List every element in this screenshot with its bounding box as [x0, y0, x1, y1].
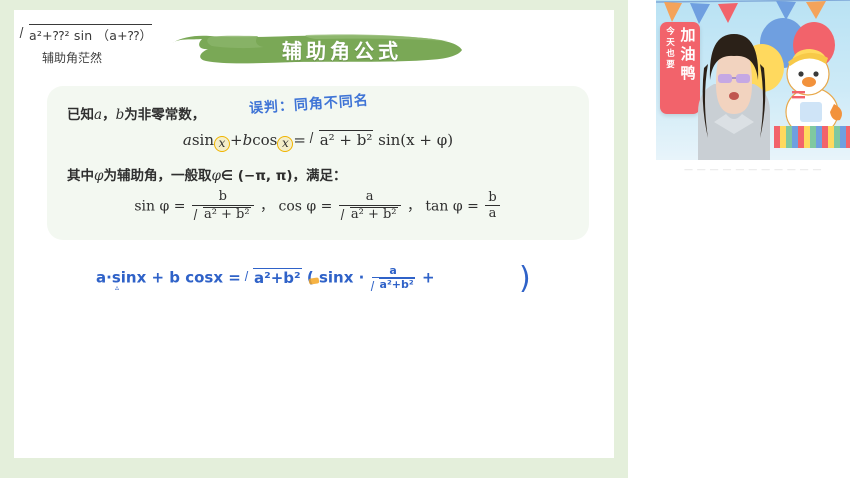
- screen-root: a²+⁇² sin （a+⁇） 辅助角茫然 辅助角公式 已知a，b为非零常数，: [0, 0, 850, 478]
- phi-t3: ，满足：: [293, 168, 347, 184]
- hw-triangle-mark: ▵: [115, 283, 119, 292]
- card-main-equation: asinx+bcosx= a² + b² sin(x + φ): [47, 130, 589, 152]
- ratio-tan-numerator: b: [485, 191, 499, 206]
- corner-note: a²+⁇² sin （a+⁇） 辅助角茫然: [20, 24, 160, 66]
- ratio-sep-2: ，: [407, 198, 421, 214]
- slide-region: a²+⁇² sin （a+⁇） 辅助角茫然 辅助角公式 已知a，b为非零常数，: [0, 0, 628, 478]
- hw-radicand: a²+b²: [253, 268, 302, 287]
- video-caption: — — — — — — — — — — —: [656, 162, 850, 178]
- ratio-sin-fn: sin φ: [134, 198, 169, 214]
- ratio-tan-fraction: b a: [485, 191, 499, 223]
- given-prefix: 已知: [67, 107, 94, 123]
- eq-equals: =: [293, 131, 306, 149]
- ratio-sin-numerator: b: [192, 190, 254, 205]
- phi-t2: 为辅助角，一般取: [103, 168, 211, 184]
- slide-page: a²+⁇² sin （a+⁇） 辅助角茫然 辅助角公式 已知a，b为非零常数，: [14, 10, 614, 458]
- eq-x2-highlight: x: [277, 136, 293, 152]
- corner-note-formula: a²+⁇² sin （a+⁇）: [20, 24, 160, 44]
- ratio-sin-den-radicand: a² + b²: [203, 207, 251, 223]
- ratio-tan-eq: =: [467, 198, 479, 214]
- phi-range: ∈ (−π, π): [221, 168, 293, 184]
- card-line-phi-range: 其中φ为辅助角，一般取φ∈ (−π, π)，满足：: [67, 164, 347, 184]
- eq-radicand: a² + b²: [319, 130, 374, 149]
- eq-b: b: [243, 131, 253, 149]
- eq-x1-highlight: x: [214, 136, 230, 152]
- corner-note-label: 辅助角茫然: [42, 49, 160, 66]
- given-var-b: b: [116, 107, 125, 123]
- hw-frac-den-radicand: a²+b²: [379, 278, 415, 291]
- instructor-avatar: [686, 24, 782, 160]
- card-ratio-row: sin φ = b a² + b² ， cos φ = a a² + b² ， …: [47, 190, 589, 223]
- eq-plus: +: [230, 131, 243, 149]
- handwritten-work: a·sinx + b cosx = a²+b² ( sinx · a a²+b²…: [96, 265, 435, 291]
- instructor-video[interactable]: 今天也要 加油鸭: [656, 0, 850, 160]
- ratio-cos-eq: =: [321, 198, 333, 214]
- phi-sym-2: φ: [211, 168, 220, 184]
- phi-t1: 其中: [67, 168, 94, 184]
- eq-rhs: sin(x + φ): [378, 131, 453, 149]
- hw-frac-numerator: a: [372, 265, 415, 277]
- ratio-cos-den-radicand: a² + b²: [350, 207, 398, 223]
- ratio-cos-den-radical: a² + b²: [342, 207, 398, 223]
- hw-fraction: a a²+b²: [372, 265, 415, 291]
- ratio-cos-numerator: a: [339, 190, 401, 205]
- ratio-sin-fraction: b a² + b²: [192, 190, 254, 223]
- eq-cos: cos: [252, 131, 277, 149]
- sign-line-1: 今天也要: [664, 27, 677, 71]
- ratio-tan-denominator: a: [485, 205, 499, 222]
- hw-close-paren: ): [519, 261, 531, 296]
- ratio-sep-1: ，: [260, 198, 274, 214]
- corner-radicand: a²+⁇² sin （a+⁇）: [29, 24, 152, 44]
- given-suffix: 为非零常数，: [124, 107, 205, 123]
- confetti-stripes: [774, 126, 850, 148]
- hw-inner-plus: +: [422, 269, 435, 287]
- card-line-given: 已知a，b为非零常数，: [67, 103, 205, 123]
- eq-sin: sin: [192, 131, 214, 149]
- given-comma: ，: [102, 107, 116, 123]
- hw-inner-sin: sinx ·: [319, 269, 364, 287]
- hw-frac-denominator: a²+b²: [372, 277, 415, 291]
- ratio-sin-eq: =: [174, 198, 186, 214]
- ratio-cos-fn: cos φ: [279, 198, 317, 214]
- ratio-cos-denominator: a² + b²: [339, 205, 401, 223]
- section-banner-title: 辅助角公式: [166, 29, 466, 69]
- corner-radical: a²+⁇² sin （a+⁇）: [20, 24, 152, 44]
- cartoon-duck-icon: [774, 44, 848, 136]
- eq-a: a: [183, 131, 192, 149]
- section-banner: 辅助角公式: [166, 29, 466, 69]
- given-var-a: a: [94, 107, 102, 123]
- ratio-tan-fn: tan φ: [425, 198, 462, 214]
- ratio-cos-fraction: a a² + b²: [339, 190, 401, 223]
- ratio-sin-denominator: a² + b²: [192, 205, 254, 223]
- ratio-sin-den-radical: a² + b²: [195, 207, 251, 223]
- hw-frac-den-radical: a²+b²: [372, 278, 415, 291]
- hw-radical: a²+b²: [246, 268, 302, 287]
- eq-radical: a² + b²: [311, 130, 374, 149]
